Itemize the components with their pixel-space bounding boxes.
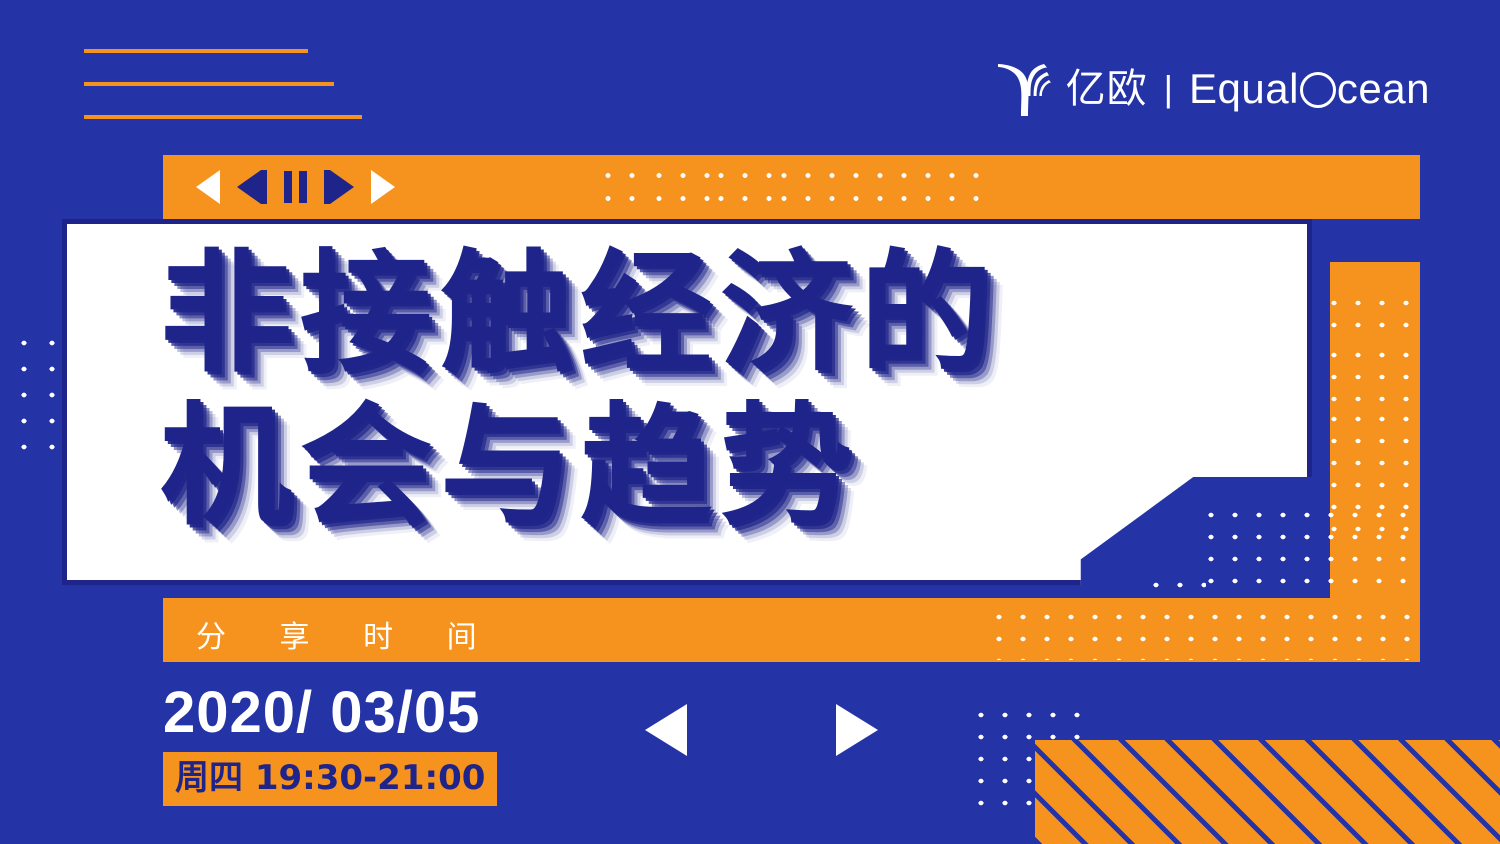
logo-en-part1: Equal [1189, 68, 1299, 110]
logo-divider: | [1164, 71, 1173, 107]
event-date: 2020/ 03/05 [163, 684, 480, 742]
share-time-label: 分 享 时 间 [196, 612, 499, 656]
right-column-dot-band-1 [1318, 288, 1422, 334]
orange-rule-medium [84, 82, 334, 86]
bottom-bar-dot-field [983, 602, 1421, 660]
orange-rule-short [84, 49, 308, 53]
forward-triangle-icon[interactable] [371, 170, 395, 204]
next-arrow-icon[interactable] [836, 704, 878, 756]
orange-rule-long [84, 115, 362, 119]
top-bar-dot-cluster-4 [768, 160, 984, 218]
media-transport-controls[interactable] [196, 170, 395, 204]
left-dot-grid [10, 330, 58, 458]
poster-title: 非接触经济的 机会与趋势 [160, 250, 1100, 533]
poster-canvas: 亿欧 | Equal cean [0, 0, 1500, 844]
previous-track-icon[interactable] [237, 170, 267, 204]
yiou-sprout-logo-icon [990, 58, 1052, 120]
event-weekday-time-badge: 周四 19:30-21:00 [163, 752, 497, 806]
top-bar-dot-cluster-3 [705, 160, 777, 218]
rewind-triangle-icon[interactable] [196, 170, 220, 204]
right-column-dot-band-3 [1318, 404, 1422, 474]
logo-o-circle-icon [1300, 72, 1336, 108]
diagonal-hatch-block [1035, 740, 1500, 844]
logo-chinese-text: 亿欧 [1066, 69, 1148, 109]
top-bar-dot-cluster-1 [592, 160, 640, 218]
title-line-1: 非接触经济的 [160, 250, 1100, 379]
logo-en-part2: cean [1337, 68, 1430, 110]
pause-icon[interactable] [284, 171, 307, 203]
right-column-dot-band-2 [1318, 340, 1422, 410]
logo-english-text: Equal cean [1189, 68, 1430, 110]
previous-arrow-icon[interactable] [645, 704, 687, 756]
title-line-2: 机会与趋势 [160, 403, 1100, 532]
brand-logo: 亿欧 | Equal cean [990, 58, 1430, 120]
next-track-icon[interactable] [324, 170, 354, 204]
